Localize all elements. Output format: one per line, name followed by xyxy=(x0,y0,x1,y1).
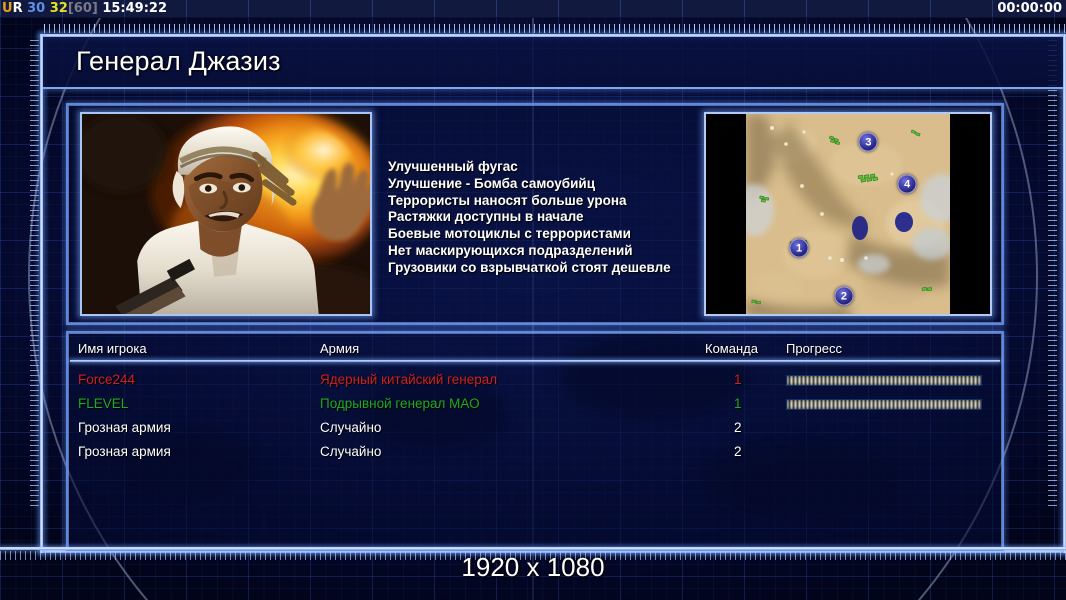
header-divider xyxy=(70,360,1000,362)
player-team: 2 xyxy=(734,444,742,459)
map-artwork xyxy=(746,114,950,314)
ruler-top xyxy=(44,24,1066,33)
player-team: 1 xyxy=(734,372,742,387)
status-prefix-r: R xyxy=(13,1,23,16)
player-army: Случайно xyxy=(320,444,381,459)
general-info-panel: Улучшенный фугас Улучшение - Бомба самоу… xyxy=(66,103,1004,325)
map-start-position-label: 4 xyxy=(904,179,910,191)
map-start-position: 1 xyxy=(790,239,809,258)
game-screen: UR 30 32[60] 15:49:22 00:00:00 Генерал Д… xyxy=(0,0,1066,600)
status-timer: 00:00:00 xyxy=(997,0,1062,18)
column-header-player-name: Имя игрока xyxy=(78,341,147,356)
table-row[interactable]: Грозная армия Случайно 2 xyxy=(68,417,1002,441)
status-prefix-u: U xyxy=(2,1,13,16)
player-team: 2 xyxy=(734,420,742,435)
table-row[interactable]: Force244 Ядерный китайский генерал 1 xyxy=(68,369,1002,393)
status-bar: UR 30 32[60] 15:49:22 00:00:00 xyxy=(0,0,1066,18)
player-list-panel: Имя игрока Армия Команда Прогресс Force2… xyxy=(66,331,1004,551)
ruler-left xyxy=(30,40,39,510)
content-area: Улучшенный фугас Улучшение - Бомба самоу… xyxy=(66,103,1004,551)
map-start-position-label: 3 xyxy=(865,137,871,149)
map-start-position: 3 xyxy=(859,133,878,152)
status-fps: 30 xyxy=(27,1,45,16)
status-clock: 15:49:22 xyxy=(102,1,167,16)
column-header-progress: Прогресс xyxy=(786,341,842,356)
player-team: 1 xyxy=(734,396,742,411)
map-preview: 1 2 3 4 xyxy=(746,114,950,314)
frame-edge-left xyxy=(40,34,43,553)
map-start-position: 4 xyxy=(898,175,917,194)
map-preview-container: 1 2 3 4 xyxy=(704,112,992,316)
portrait-artwork xyxy=(82,114,370,314)
player-name: Грозная армия xyxy=(78,420,171,435)
status-fps-secondary: 32 xyxy=(50,1,68,16)
general-description: Улучшенный фугас Улучшение - Бомба самоу… xyxy=(388,159,718,277)
map-start-position: 2 xyxy=(834,287,853,306)
description-line: Грузовики со взрывчаткой стоят дешевле xyxy=(388,260,718,277)
description-line: Улучшенный фугас xyxy=(388,159,718,176)
title-bar: Генерал Джазиз xyxy=(43,37,1063,89)
player-army: Случайно xyxy=(320,420,381,435)
page-title: Генерал Джазиз xyxy=(76,46,281,77)
table-row[interactable]: Грозная армия Случайно 2 xyxy=(68,441,1002,465)
description-line: Нет маскирующихся подразделений xyxy=(388,243,718,260)
player-name: Грозная армия xyxy=(78,444,171,459)
general-portrait xyxy=(80,112,372,316)
resolution-label: 1920 x 1080 xyxy=(0,552,1066,583)
footer-divider xyxy=(0,547,1066,550)
player-army: Ядерный китайский генерал xyxy=(320,372,497,387)
status-fps-cap: [60] xyxy=(68,1,98,16)
status-bar-left: UR 30 32[60] 15:49:22 xyxy=(2,0,167,18)
player-name: FLEVEL xyxy=(78,396,128,411)
column-header-army: Армия xyxy=(320,341,359,356)
description-line: Улучшение - Бомба самоубийц xyxy=(388,176,718,193)
player-army: Подрывной генерал МАО xyxy=(320,396,480,411)
player-progress-bar xyxy=(786,399,982,410)
player-name: Force244 xyxy=(78,372,135,387)
description-line: Растяжки доступны в начале xyxy=(388,209,718,226)
description-line: Террористы наносят больше урона xyxy=(388,193,718,210)
column-header-team: Команда xyxy=(705,341,758,356)
description-line: Боевые мотоциклы с террористами xyxy=(388,226,718,243)
player-progress-bar xyxy=(786,375,982,386)
map-start-position-label: 2 xyxy=(841,291,847,303)
table-row[interactable]: FLEVEL Подрывной генерал МАО 1 xyxy=(68,393,1002,417)
map-start-position-label: 1 xyxy=(796,243,802,255)
